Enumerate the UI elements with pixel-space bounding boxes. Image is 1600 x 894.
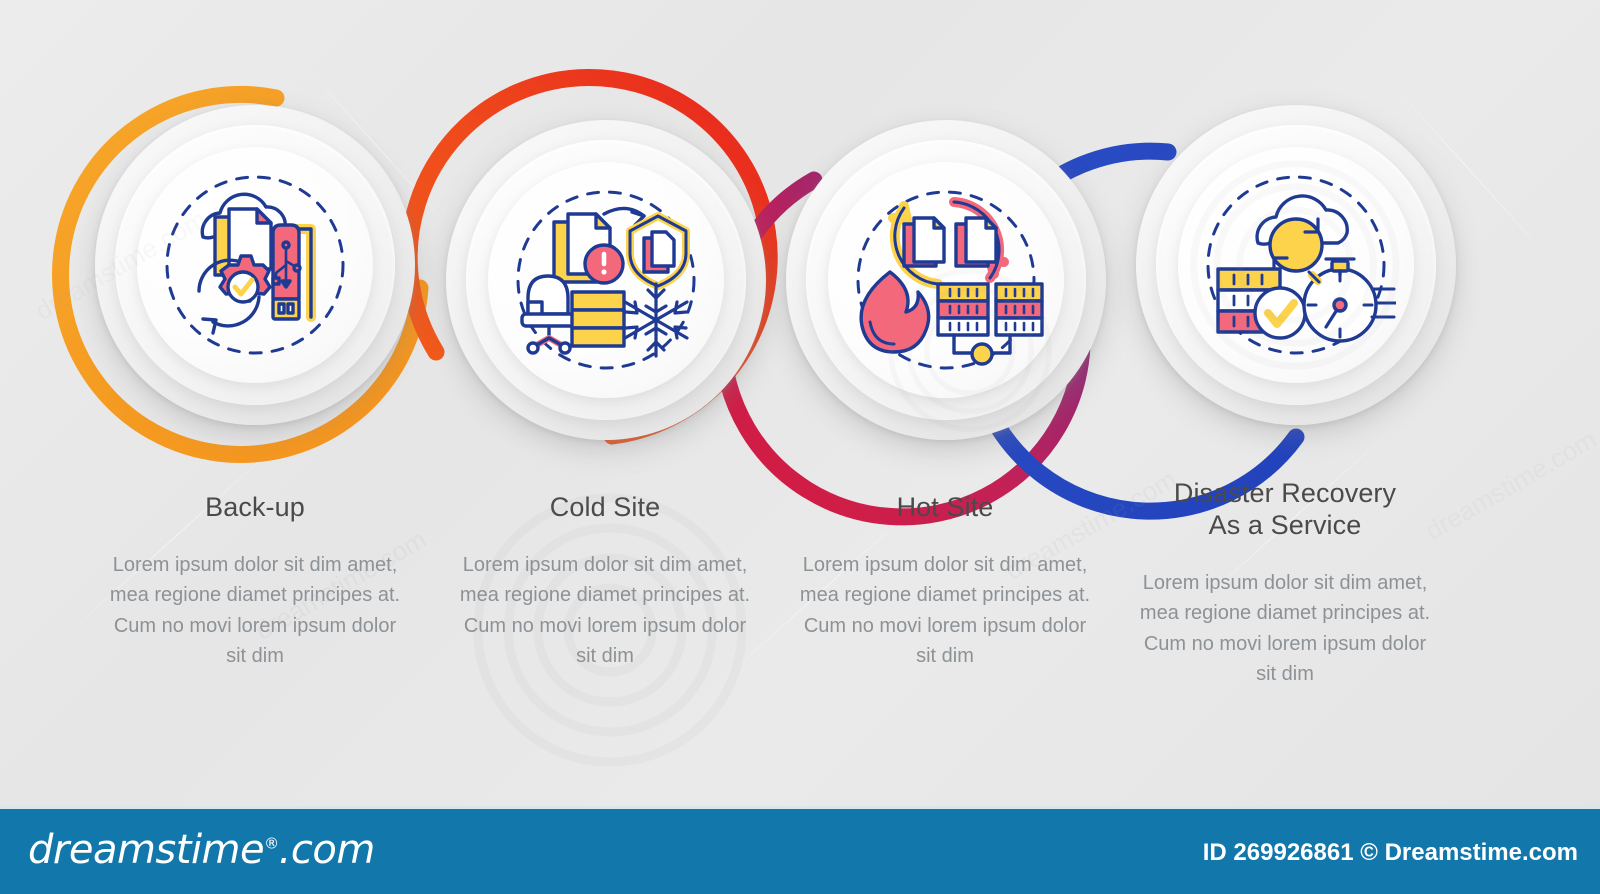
image-id-copyright: ID 269926861 © Dreamstime.com: [1203, 839, 1578, 867]
step-circle-cold-site[interactable]: [446, 120, 766, 440]
watermark-text: dreamstime.com: [1420, 424, 1600, 547]
column-cold-site: Cold Site Lorem ipsum dolor sit dim amet…: [455, 492, 755, 671]
step-body: Lorem ipsum dolor sit dim amet, mea regi…: [455, 550, 755, 672]
circle-inner-face: [488, 162, 724, 398]
column-disaster-recovery-as-a-service: Disaster Recovery As a Service Lorem ips…: [1135, 478, 1435, 689]
step-title: Cold Site: [455, 492, 755, 524]
icon-cold-site: [506, 180, 706, 380]
step-body: Lorem ipsum dolor sit dim amet, mea regi…: [105, 550, 405, 672]
registered-mark: ®: [264, 835, 279, 853]
step-body: Lorem ipsum dolor sit dim amet, mea regi…: [795, 550, 1095, 672]
circle-inner-face: [1178, 147, 1414, 383]
step-body: Lorem ipsum dolor sit dim amet, mea regi…: [1135, 568, 1435, 690]
step-title: Back-up: [105, 492, 405, 524]
column-hot-site: Hot Site Lorem ipsum dolor sit dim amet,…: [795, 492, 1095, 671]
circle-inner-face: [828, 162, 1064, 398]
step-circle-back-up[interactable]: [95, 105, 415, 425]
infographic-body: Back-up Lorem ipsum dolor sit dim amet, …: [0, 0, 1600, 806]
step-circle-disaster-recovery-as-a-service[interactable]: [1136, 105, 1456, 425]
icon-back-up: [155, 165, 355, 365]
icon-disaster-recovery-as-a-service: [1196, 165, 1396, 365]
brand-suffix: .com: [279, 827, 375, 873]
step-circle-hot-site[interactable]: [786, 120, 1106, 440]
brand-name: dreamstime: [28, 827, 264, 873]
dreamstime-logo[interactable]: dreamstime®.com: [28, 827, 375, 873]
step-title: Disaster Recovery As a Service: [1135, 478, 1435, 542]
step-title: Hot Site: [795, 492, 1095, 524]
icon-hot-site: [846, 180, 1046, 380]
footer-bar: dreamstime®.com ID 269926861 © Dreamstim…: [0, 806, 1600, 894]
infographic-page: Back-up Lorem ipsum dolor sit dim amet, …: [0, 0, 1600, 894]
circle-inner-face: [137, 147, 373, 383]
column-back-up: Back-up Lorem ipsum dolor sit dim amet, …: [105, 492, 405, 671]
